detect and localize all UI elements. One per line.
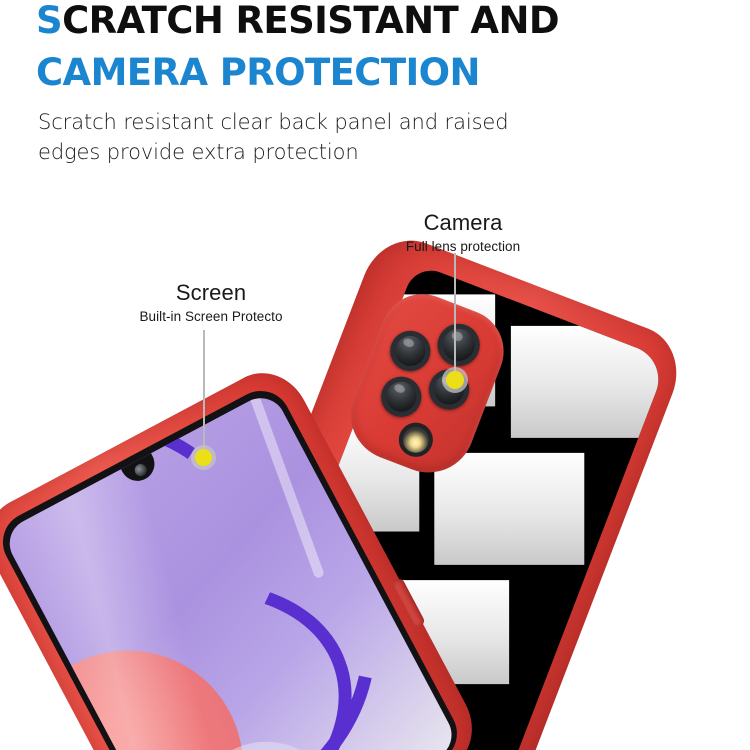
callout-camera: Camera Full lens protection bbox=[330, 210, 596, 256]
callout-camera-marker-dot bbox=[446, 371, 464, 389]
page-title-line-1: SCRATCH RESISTANT AND bbox=[36, 2, 559, 39]
description-line-1: Scratch resistant clear back panel and r… bbox=[38, 108, 578, 138]
infographic-canvas: SCRATCH RESISTANT AND CAMERA PROTECTION … bbox=[0, 0, 750, 750]
reflection-pane bbox=[434, 453, 584, 565]
description-line-2: edges provide extra protection bbox=[38, 138, 578, 168]
camera-flash-icon bbox=[394, 418, 438, 462]
page-title-line-2: CAMERA PROTECTION bbox=[36, 54, 480, 91]
title-line-1-rest: CRATCH RESISTANT AND bbox=[62, 0, 559, 42]
callout-screen: Screen Built-in Screen Protecto bbox=[80, 280, 342, 326]
callout-camera-leader-line bbox=[454, 253, 456, 374]
camera-lens-icon bbox=[432, 318, 486, 372]
camera-lens-icon bbox=[423, 364, 475, 416]
camera-lens-icon bbox=[375, 371, 427, 423]
callout-screen-marker-dot bbox=[195, 449, 212, 466]
callout-screen-leader-line bbox=[203, 330, 205, 452]
callout-camera-subtitle: Full lens protection bbox=[330, 238, 596, 256]
callout-screen-subtitle: Built-in Screen Protecto bbox=[80, 308, 342, 326]
callout-screen-title: Screen bbox=[80, 280, 342, 305]
title-accent-letter: S bbox=[36, 0, 62, 42]
camera-lens-icon bbox=[384, 325, 436, 377]
description-text: Scratch resistant clear back panel and r… bbox=[38, 108, 578, 168]
callout-camera-title: Camera bbox=[330, 210, 596, 235]
